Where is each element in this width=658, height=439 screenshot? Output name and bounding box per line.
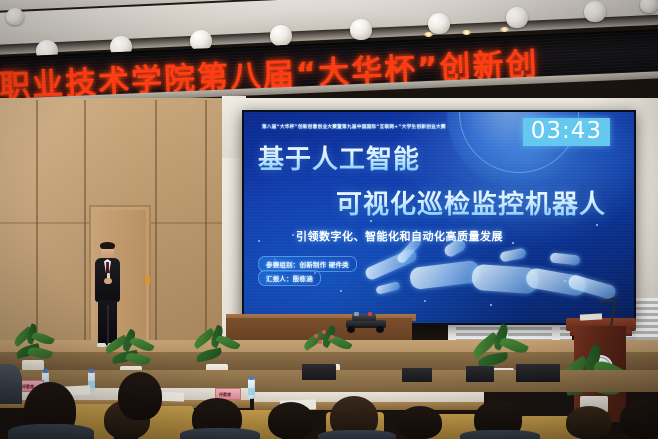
audience-head bbox=[118, 372, 162, 420]
audience-head bbox=[620, 400, 658, 439]
slide-orb-ring bbox=[459, 112, 579, 173]
door-handle-icon[interactable] bbox=[145, 275, 150, 284]
robot-illustration bbox=[354, 230, 624, 322]
bottle-label bbox=[248, 388, 255, 395]
wall-seam bbox=[84, 100, 86, 356]
inspection-robot-vehicle bbox=[344, 312, 388, 332]
slide-tag-presenter: 汇报人：殷栋涵 bbox=[258, 270, 321, 286]
bottle-cap bbox=[43, 369, 48, 373]
audience-head bbox=[566, 406, 612, 439]
audience-shoulders bbox=[180, 428, 260, 439]
judge-name-card-text: 评委席 bbox=[219, 392, 231, 398]
av-equipment bbox=[516, 364, 560, 382]
bottle-cap bbox=[249, 376, 254, 380]
slide-orb-graphic bbox=[447, 112, 597, 190]
presenter-hair bbox=[100, 242, 115, 249]
ceiling-spotlight-icon bbox=[428, 13, 450, 34]
ceiling-spotlight-icon bbox=[584, 1, 606, 22]
slide-particles bbox=[244, 112, 634, 323]
presenter bbox=[92, 243, 122, 349]
ceiling-spotlight-icon bbox=[506, 7, 528, 28]
slide-tag-group: 参赛组别：创新制作 硬件类 bbox=[258, 256, 357, 272]
podium-notes bbox=[580, 313, 602, 320]
projection-screen: 第八届“大华杯”创新创意创业大赛暨第九届中国国际“互联网+”大学生创新创业大赛 … bbox=[242, 110, 636, 325]
audience-shoulders bbox=[460, 430, 540, 439]
presentation-slide: 第八届“大华杯”创新创意创业大赛暨第九届中国国际“互联网+”大学生创新创业大赛 … bbox=[244, 112, 634, 323]
wall-seam bbox=[36, 100, 38, 356]
slide-subtitle: 引领数字化、智能化和自动化高质量发展 bbox=[296, 228, 503, 244]
bottle-cap bbox=[89, 369, 94, 373]
slide-title-line2: 可视化巡检监控机器人 bbox=[336, 184, 606, 221]
ceiling-spotlight-icon bbox=[6, 8, 24, 25]
audience-laptop bbox=[402, 368, 432, 382]
auditorium-photo: 电职业技术学院第八届“大华杯”创新创 bbox=[0, 0, 658, 439]
slide-header-text: 第八届“大华杯”创新创意创业大赛暨第九届中国国际“互联网+”大学生创新创业大赛 bbox=[262, 124, 562, 130]
audience-laptop bbox=[302, 364, 336, 380]
ceiling-led-icon bbox=[462, 30, 471, 35]
audience-head bbox=[398, 406, 442, 439]
ceiling-led-icon bbox=[424, 32, 433, 37]
slide-title-line1: 基于人工智能 bbox=[258, 139, 420, 176]
countdown-timer: 03:43 bbox=[523, 118, 610, 146]
av-equipment bbox=[466, 366, 494, 382]
ceiling-spotlight-icon bbox=[640, 0, 658, 13]
ceiling-spotlight-icon bbox=[270, 25, 292, 46]
audience-shoulders bbox=[8, 424, 94, 439]
wall-seam bbox=[205, 100, 207, 356]
foreground-person bbox=[0, 364, 22, 404]
ceiling-spotlight-icon bbox=[350, 19, 372, 40]
audience-head bbox=[268, 402, 314, 439]
wall-seam bbox=[155, 100, 157, 356]
ceiling-led-icon bbox=[500, 27, 509, 32]
audience-shoulders bbox=[318, 430, 396, 439]
presenter-hands bbox=[104, 278, 112, 284]
